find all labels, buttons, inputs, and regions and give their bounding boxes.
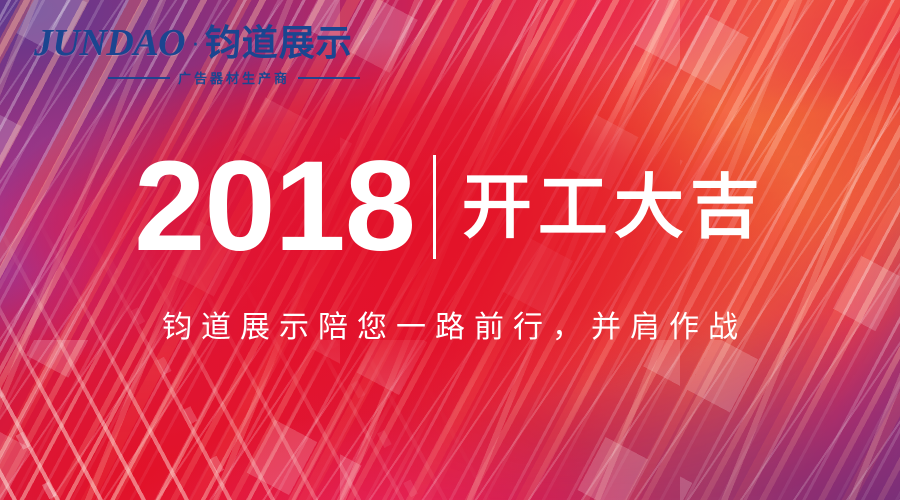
headline-divider [433,155,436,259]
brand-logo-subtitle-row: 广告器材生产商 [34,68,360,87]
brand-logo-separator-dot: · [191,29,200,55]
promo-banner: JUNDAO · 钧道展示 广告器材生产商 2018 开工大吉 钧道展示陪您一路… [0,0,900,500]
brand-logo-wordmark: JUNDAO · 钧道展示 [34,24,360,62]
headline-slogan: 开工大吉 [462,172,766,242]
headline-year: 2018 [134,152,415,262]
brand-logo-chinese-name: 钧道展示 [205,25,353,61]
brand-logo: JUNDAO · 钧道展示 广告器材生产商 [34,24,360,87]
tagline-text: 钧道展示陪您一路前行，并肩作战 [0,302,900,346]
brand-logo-rule-left [108,77,170,79]
headline-block: 2018 开工大吉 [0,152,900,262]
brand-logo-rule-right [298,77,360,79]
brand-logo-subtitle: 广告器材生产商 [178,68,290,87]
brand-logo-latin-name: JUNDAO [34,24,185,62]
